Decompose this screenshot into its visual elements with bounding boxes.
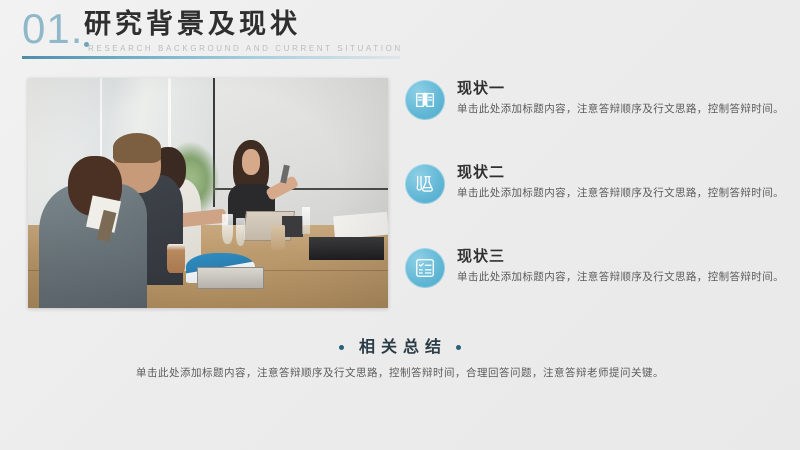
slide-header: 01. 研究背景及现状 RESEARCH BACKGROUND AND CURR…: [22, 6, 422, 62]
list-item-body: 单击此处添加标题内容，注意答辩顺序及行文思路，控制答辩时间。: [457, 270, 785, 285]
list-item-title: 现状一: [457, 78, 785, 98]
checklist-icon: [405, 248, 445, 288]
summary-body: 单击此处添加标题内容，注意答辩顺序及行文思路，控制答辩时间，合理回答问题，注意答…: [90, 365, 710, 381]
list-item-body: 单击此处添加标题内容，注意答辩顺序及行文思路，控制答辩时间。: [457, 102, 785, 117]
slide: 01. 研究背景及现状 RESEARCH BACKGROUND AND CURR…: [0, 0, 800, 450]
section-number: 01.: [22, 8, 83, 50]
summary-title-row: 相关总结: [0, 336, 800, 358]
list-item-title: 现状二: [457, 162, 785, 182]
header-divider: [22, 56, 400, 59]
list-item-title: 现状三: [457, 246, 785, 266]
list-item[interactable]: 现状一 单击此处添加标题内容，注意答辩顺序及行文思路，控制答辩时间。: [405, 78, 785, 152]
page-title: 研究背景及现状: [84, 8, 301, 42]
photo-canvas: [28, 78, 388, 308]
photo-vignette: [28, 78, 388, 308]
bullet-dot-icon: [339, 345, 344, 350]
bullet-dot-icon: [456, 345, 461, 350]
flask-icon: [405, 164, 445, 204]
status-list: 现状一 单击此处添加标题内容，注意答辩顺序及行文思路，控制答辩时间。 现状二 单…: [405, 78, 785, 330]
list-item[interactable]: 现状二 单击此处添加标题内容，注意答辩顺序及行文思路，控制答辩时间。: [405, 162, 785, 236]
list-item[interactable]: 现状三 单击此处添加标题内容，注意答辩顺序及行文思路，控制答辩时间。: [405, 246, 785, 320]
summary-title: 相关总结: [353, 336, 447, 358]
list-item-body: 单击此处添加标题内容，注意答辩顺序及行文思路，控制答辩时间。: [457, 186, 785, 201]
page-subtitle-english: RESEARCH BACKGROUND AND CURRENT SITUATIO…: [88, 44, 403, 54]
summary-section: 相关总结 单击此处添加标题内容，注意答辩顺序及行文思路，控制答辩时间，合理回答问…: [0, 336, 800, 381]
open-book-icon: [405, 80, 445, 120]
meeting-photo: [28, 78, 388, 308]
